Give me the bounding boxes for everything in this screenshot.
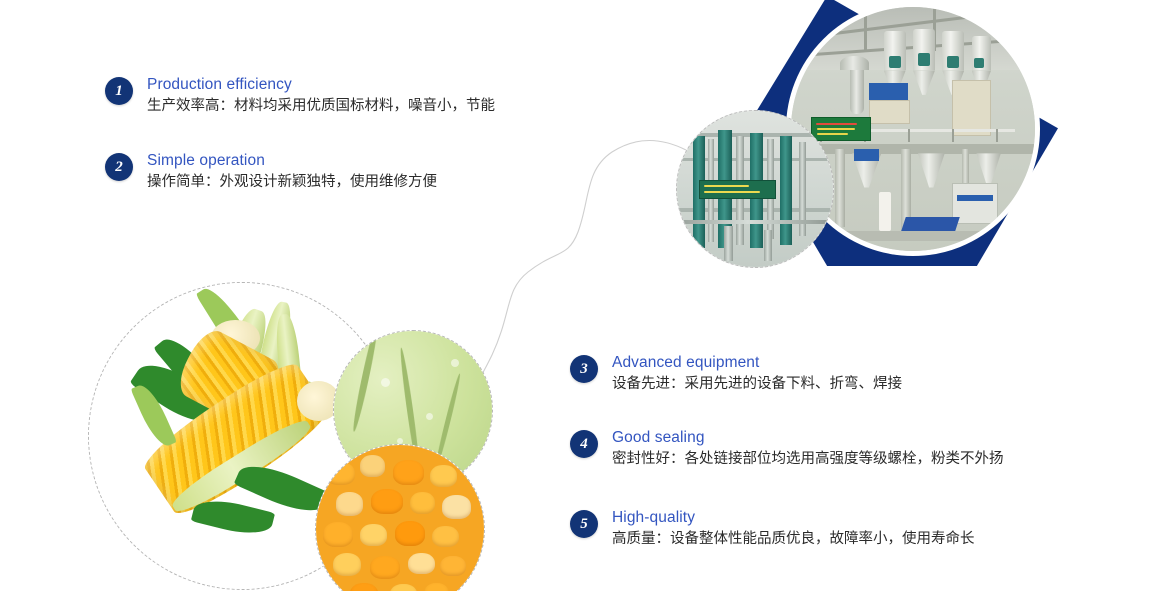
feature-text-5: High-quality 高质量：设备整体性能品质优良，故障率小，使用寿命长 xyxy=(612,508,975,550)
feature-title-5: High-quality xyxy=(612,508,975,527)
feature-item-5[interactable]: 5 High-quality 高质量：设备整体性能品质优良，故障率小，使用寿命长 xyxy=(570,508,975,550)
feature-text-4: Good sealing 密封性好：各处链接部位均选用高强度等级螺栓，粉类不外扬 xyxy=(612,428,1004,470)
feature-title-3: Advanced equipment xyxy=(612,353,902,372)
kernels-illustration xyxy=(316,445,484,591)
feature-badge-4: 4 xyxy=(570,430,598,458)
feature-infographic: 1 Production efficiency 生产效率高：材料均采用优质国标材… xyxy=(0,0,1154,591)
feature-desc-1: 生产效率高：材料均采用优质国标材料，噪音小，节能 xyxy=(147,95,495,117)
feature-badge-2: 2 xyxy=(105,153,133,181)
feature-desc-4: 密封性好：各处链接部位均选用高强度等级螺栓，粉类不外扬 xyxy=(612,448,1004,470)
feature-title-2: Simple operation xyxy=(147,151,437,170)
feature-item-3[interactable]: 3 Advanced equipment 设备先进：采用先进的设备下料、折弯、焊… xyxy=(570,353,902,395)
feature-item-2[interactable]: 2 Simple operation 操作简单：外观设计新颖独特，使用维修方便 xyxy=(105,151,437,193)
feature-text-2: Simple operation 操作简单：外观设计新颖独特，使用维修方便 xyxy=(147,151,437,193)
feature-badge-5: 5 xyxy=(570,510,598,538)
feature-badge-3: 3 xyxy=(570,355,598,383)
feature-item-1[interactable]: 1 Production efficiency 生产效率高：材料均采用优质国标材… xyxy=(105,75,495,117)
feature-desc-5: 高质量：设备整体性能品质优良，故障率小，使用寿命长 xyxy=(612,528,975,550)
feature-badge-1: 1 xyxy=(105,77,133,105)
photo-corn-kernels xyxy=(315,444,485,591)
feature-text-1: Production efficiency 生产效率高：材料均采用优质国标材料，… xyxy=(147,75,495,117)
feature-title-1: Production efficiency xyxy=(147,75,495,94)
feature-title-4: Good sealing xyxy=(612,428,1004,447)
teal-mill-illustration xyxy=(677,111,833,267)
feature-text-3: Advanced equipment 设备先进：采用先进的设备下料、折弯、焊接 xyxy=(612,353,902,395)
feature-desc-2: 操作简单：外观设计新颖独特，使用维修方便 xyxy=(147,171,437,193)
feature-desc-3: 设备先进：采用先进的设备下料、折弯、焊接 xyxy=(612,373,902,395)
feature-item-4[interactable]: 4 Good sealing 密封性好：各处链接部位均选用高强度等级螺栓，粉类不… xyxy=(570,428,1004,470)
photo-milling-machinery xyxy=(676,110,834,268)
